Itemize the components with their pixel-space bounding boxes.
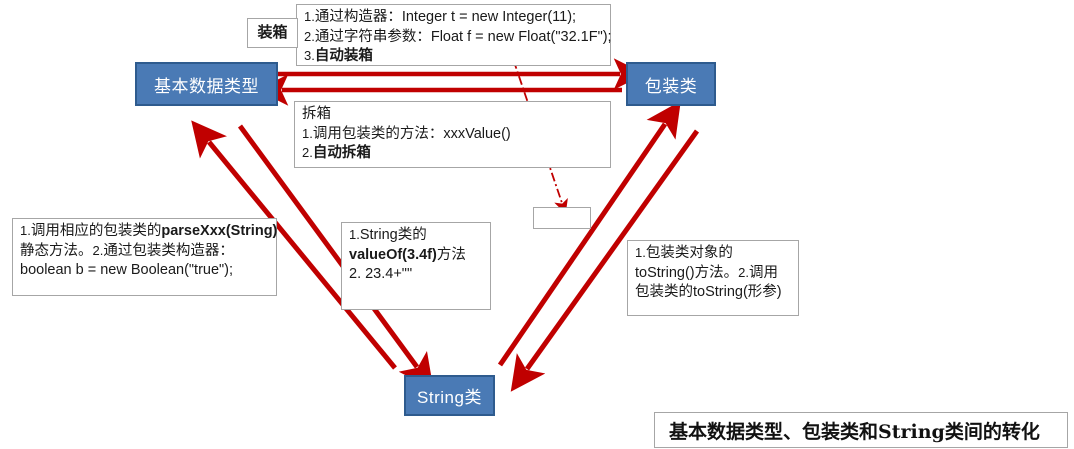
note-w2s-line-3: 包装类的toString(形参): [635, 283, 791, 303]
note-unboxing-line-2-num: 2.: [302, 145, 313, 160]
note-boxing-line-2-text: 通过字符串参数：Float f = new Float("32.1F");: [315, 29, 612, 45]
note-boxing-line-1-text: 通过构造器：Integer t = new Integer(11);: [315, 9, 576, 25]
note-w2s-line-2: toString()方法。2.调用: [635, 264, 791, 284]
note-w2s-line-1: 1.包装类对象的: [635, 244, 791, 264]
note-boxing-line-1: 1.通过构造器：Integer t = new Integer(11);: [304, 8, 603, 28]
note-s2p-line-1-text: 调用相应的包装类的: [31, 223, 162, 239]
note-p2s-line-3: 2. 23.4+"": [349, 265, 483, 285]
note-s2p-line-1: 1.调用相应的包装类的parseXxx(String): [20, 222, 269, 242]
note-unboxing-line-1-num: 1.: [302, 126, 313, 141]
note-w2s-line-1-num: 1.: [635, 245, 646, 260]
note-unboxing-title: 拆箱: [302, 105, 603, 125]
note-boxing-line-3-text: 自动装箱: [315, 48, 373, 64]
empty-placeholder-box: [533, 207, 591, 229]
note-boxing-line-2: 2.通过字符串参数：Float f = new Float("32.1F");: [304, 28, 603, 48]
note-boxing: 1.通过构造器：Integer t = new Integer(11); 2.通…: [296, 4, 611, 66]
note-string-to-primitive: 1.调用相应的包装类的parseXxx(String) 静态方法。2.通过包装类…: [12, 218, 277, 296]
note-p2s-line-2: valueOf(3.4f)方法: [349, 246, 483, 266]
node-wrapper-class[interactable]: 包装类: [626, 62, 716, 106]
note-boxing-line-3-num: 3.: [304, 48, 315, 63]
diagram-canvas: 基本数据类型 包装类 String类 装箱 1.通过构造器：Integer t …: [0, 0, 1074, 449]
note-s2p-line-2-text-a: 静态方法。: [20, 243, 93, 259]
note-w2s-line-2-text-b: 调用: [749, 265, 778, 281]
label-boxing-text: 装箱: [257, 23, 287, 43]
label-boxing: 装箱: [247, 18, 298, 48]
note-p2s-line-2-text: 方法: [437, 247, 466, 263]
note-s2p-line-1-bold: parseXxx(String): [161, 223, 277, 239]
note-s2p-line-2-text-b: 通过包装类构造器：: [103, 243, 234, 259]
diagram-caption: 基本数据类型、包装类和String类间的转化: [654, 412, 1068, 448]
note-s2p-line-3: boolean b = new Boolean("true");: [20, 261, 269, 281]
note-unboxing-line-1-text: 调用包装类的方法：xxxValue(): [313, 126, 511, 142]
note-unboxing: 拆箱 1.调用包装类的方法：xxxValue() 2.自动拆箱: [294, 101, 611, 168]
note-unboxing-line-1: 1.调用包装类的方法：xxxValue(): [302, 125, 603, 145]
note-boxing-line-3: 3.自动装箱: [304, 47, 603, 67]
node-wrapper-label: 包装类: [645, 72, 698, 97]
note-w2s-line-2-text-a: toString()方法。: [635, 265, 738, 281]
node-string-label: String类: [417, 383, 482, 408]
diagram-caption-text: 基本数据类型、包装类和String类间的转化: [669, 417, 1040, 444]
note-unboxing-line-2: 2.自动拆箱: [302, 144, 603, 164]
note-w2s-line-1-text: 包装类对象的: [646, 245, 733, 261]
node-primitive-label: 基本数据类型: [154, 72, 259, 97]
note-s2p-line-2-num: 2.: [93, 243, 104, 258]
note-s2p-line-1-num: 1.: [20, 223, 31, 238]
note-unboxing-line-2-text: 自动拆箱: [313, 145, 371, 161]
node-primitive-data-type[interactable]: 基本数据类型: [135, 62, 278, 106]
note-p2s-line-2-bold: valueOf(3.4f): [349, 247, 437, 263]
note-p2s-line-1-num: 1.: [349, 227, 360, 242]
node-string-class[interactable]: String类: [404, 375, 495, 416]
note-p2s-line-1: 1.String类的: [349, 226, 483, 246]
note-boxing-line-1-num: 1.: [304, 9, 315, 24]
note-w2s-line-2-num: 2.: [738, 265, 749, 280]
note-wrapper-to-string: 1.包装类对象的 toString()方法。2.调用 包装类的toString(…: [627, 240, 799, 316]
note-boxing-line-2-num: 2.: [304, 29, 315, 44]
note-p2s-line-1-text: String类的: [360, 227, 427, 243]
note-s2p-line-2: 静态方法。2.通过包装类构造器：: [20, 242, 269, 262]
note-primitive-to-string: 1.String类的 valueOf(3.4f)方法 2. 23.4+"": [341, 222, 491, 310]
